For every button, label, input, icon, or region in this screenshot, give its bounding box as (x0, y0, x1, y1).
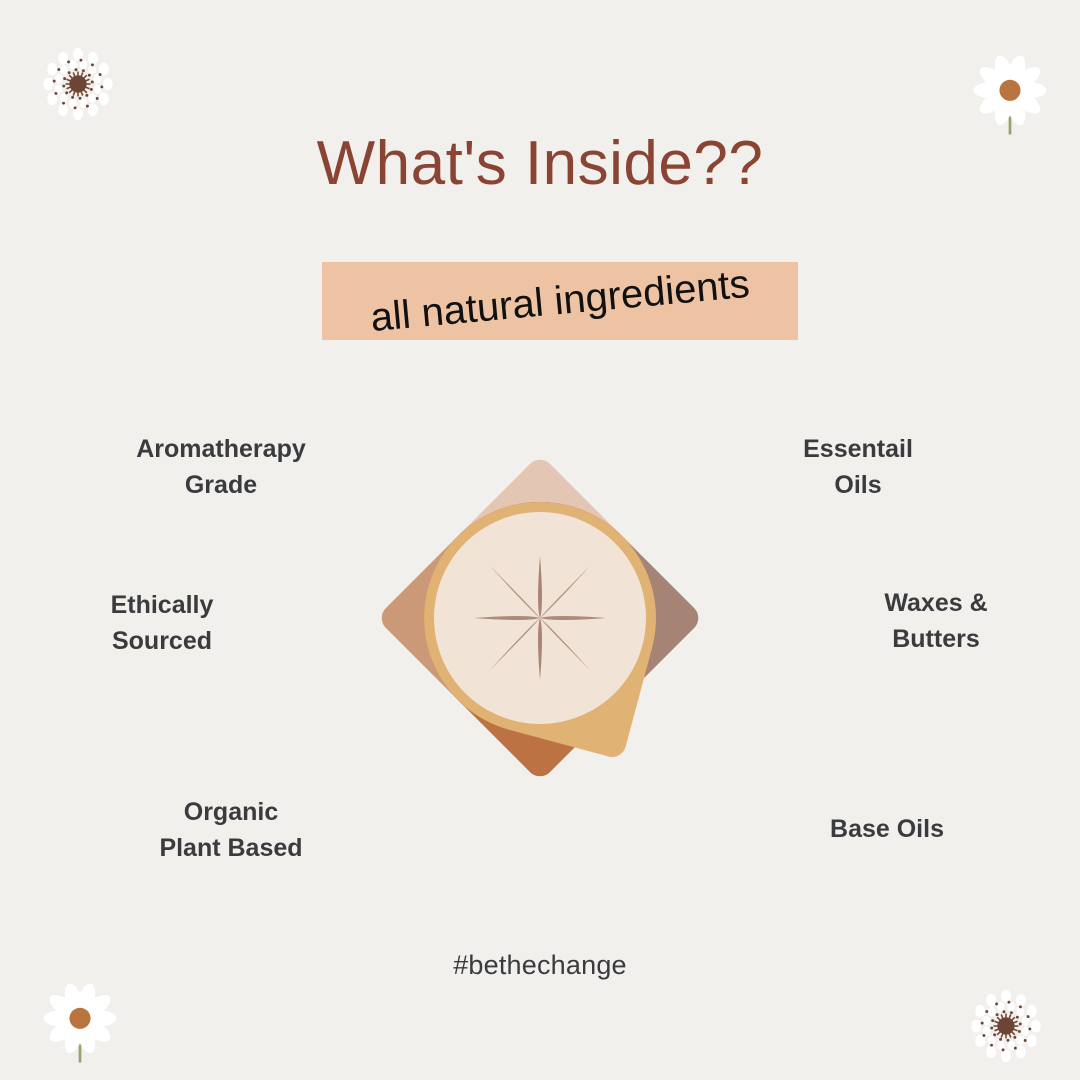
label-line: Essentail (748, 432, 968, 468)
label-line: Organic (104, 795, 358, 831)
label-line: Sourced (52, 624, 272, 660)
label-line: Grade (96, 468, 346, 504)
footer-hashtag: #bethechange (0, 950, 1080, 981)
label-waxes-butters: Waxes & Butters (820, 586, 1052, 657)
label-line: Butters (820, 622, 1052, 658)
label-base-oils: Base Oils (760, 812, 1014, 848)
dandelion-burst-icon (30, 36, 126, 132)
label-essential-oils: Essentail Oils (748, 432, 968, 503)
label-line: Base Oils (760, 812, 1014, 848)
daisy-flower-icon (32, 978, 128, 1074)
label-line: Aromatherapy (96, 432, 346, 468)
label-line: Oils (748, 468, 968, 504)
label-line: Waxes & (820, 586, 1052, 622)
label-organic-plant-based: Organic Plant Based (104, 795, 358, 866)
subtitle-text: all natural ingredients (319, 241, 800, 362)
sparkle-star-icon (470, 548, 610, 688)
dandelion-burst-icon (958, 978, 1054, 1074)
label-ethically-sourced: Ethically Sourced (52, 588, 272, 659)
label-aromatherapy-grade: Aromatherapy Grade (96, 432, 346, 503)
page-title: What's Inside?? (0, 128, 1080, 199)
label-line: Ethically (52, 588, 272, 624)
infographic-canvas: What's Inside?? all natural ingredients (0, 0, 1080, 1080)
label-line: Plant Based (104, 831, 358, 867)
